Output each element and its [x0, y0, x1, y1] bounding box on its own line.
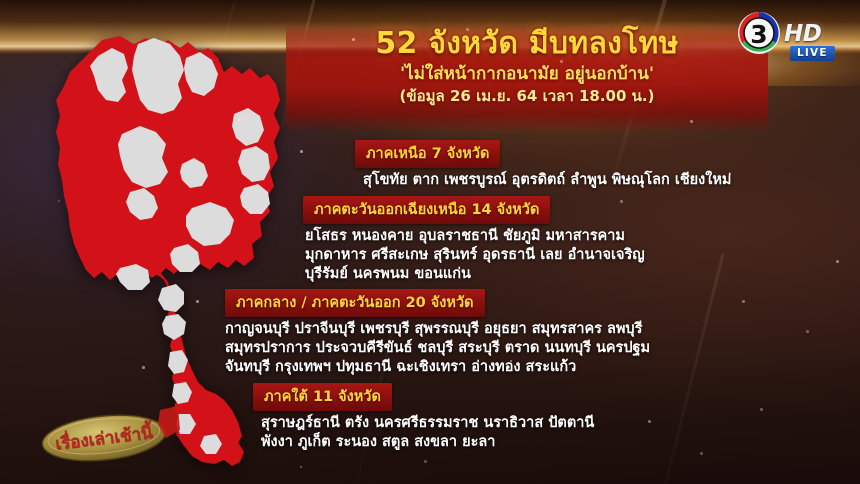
- star-speck: [690, 120, 693, 123]
- province-line: สุโขทัย ตาก เพชรบูรณ์ อุตรดิตถ์ ลำพูน พิ…: [363, 171, 845, 190]
- hd-label: HD: [784, 21, 821, 47]
- channel-3-emblem-icon: 3: [736, 10, 782, 56]
- province-line: ยโสธร หนองคาย อุบลราชธานี ชัยภูมิ มหาสาร…: [305, 227, 845, 246]
- region-province-list-northeast: ยโสธร หนองคาย อุบลราชธานี ชัยภูมิ มหาสาร…: [305, 227, 845, 284]
- region-province-list-north: สุโขทัย ตาก เพชรบูรณ์ อุตรดิตถ์ ลำพูน พิ…: [363, 171, 845, 190]
- region-province-list-south: สุราษฎร์ธานี ตรัง นครศรีธรรมราช นราธิวาส…: [261, 414, 845, 452]
- province-line: บุรีรัมย์ นครพนม ขอนแก่น: [305, 265, 845, 284]
- province-line: พังงา ภูเก็ต ระนอง สตูล สงขลา ยะลา: [261, 433, 845, 452]
- region-sections: ภาคเหนือ 7 จังหวัด สุโขทัย ตาก เพชรบูรณ์…: [225, 140, 845, 458]
- headline-data-timestamp: (ข้อมูล 26 เม.ย. 64 เวลา 18.00 น.): [286, 87, 768, 105]
- region-section-south: ภาคใต้ 11 จังหวัด สุราษฎร์ธานี ตรัง นครศ…: [253, 383, 845, 452]
- region-heading-central-east: ภาคกลาง / ภาคตะวันออก 20 จังหวัด: [225, 289, 485, 317]
- program-watermark: เรื่องเล่าเช้านี้: [28, 404, 180, 466]
- province-line: จันทบุรี กรุงเทพฯ ปทุมธานี ฉะเชิงเทรา อ่…: [225, 358, 845, 377]
- page-title: 52 จังหวัด มีบทลงโทษ: [286, 26, 768, 61]
- province-line: กาญจนบุรี ปราจีนบุรี เพชรบุรี สุพรรณบุรี…: [225, 320, 845, 339]
- channel-logo: 3 HD LIVE: [736, 8, 848, 64]
- headline-subtitle: 'ไม่ใส่หน้ากากอนามัย อยู่นอกบ้าน': [286, 64, 768, 85]
- star-speck: [300, 466, 302, 468]
- region-section-northeast: ภาคตะวันออกเฉียงเหนือ 14 จังหวัด ยโสธร ห…: [303, 196, 845, 284]
- star-speck: [424, 460, 427, 463]
- svg-text:3: 3: [750, 20, 767, 49]
- province-line: มุกดาหาร ศรีสะเกษ สุรินทร์ อุดรธานี เลย …: [305, 246, 845, 265]
- region-heading-north: ภาคเหนือ 7 จังหวัด: [355, 140, 500, 168]
- region-heading-northeast: ภาคตะวันออกเฉียงเหนือ 14 จังหวัด: [303, 196, 550, 224]
- region-section-north: ภาคเหนือ 7 จังหวัด สุโขทัย ตาก เพชรบูรณ์…: [355, 140, 845, 190]
- region-province-list-central-east: กาญจนบุรี ปราจีนบุรี เพชรบุรี สุพรรณบุรี…: [225, 320, 845, 377]
- live-badge: LIVE: [790, 46, 835, 61]
- headline-block: 52 จังหวัด มีบทลงโทษ 'ไม่ใส่หน้ากากอนามั…: [286, 26, 768, 105]
- region-heading-south: ภาคใต้ 11 จังหวัด: [253, 383, 392, 411]
- province-line: สุราษฎร์ธานี ตรัง นครศรีธรรมราช นราธิวาส…: [261, 414, 845, 433]
- broadcast-graphic-stage: 52 จังหวัด มีบทลงโทษ 'ไม่ใส่หน้ากากอนามั…: [0, 0, 860, 484]
- province-line: สมุทรปราการ ประจวบคีรีขันธ์ ชลบุรี สระบุ…: [225, 339, 845, 358]
- region-section-central-east: ภาคกลาง / ภาคตะวันออก 20 จังหวัด กาญจนบุ…: [225, 289, 845, 377]
